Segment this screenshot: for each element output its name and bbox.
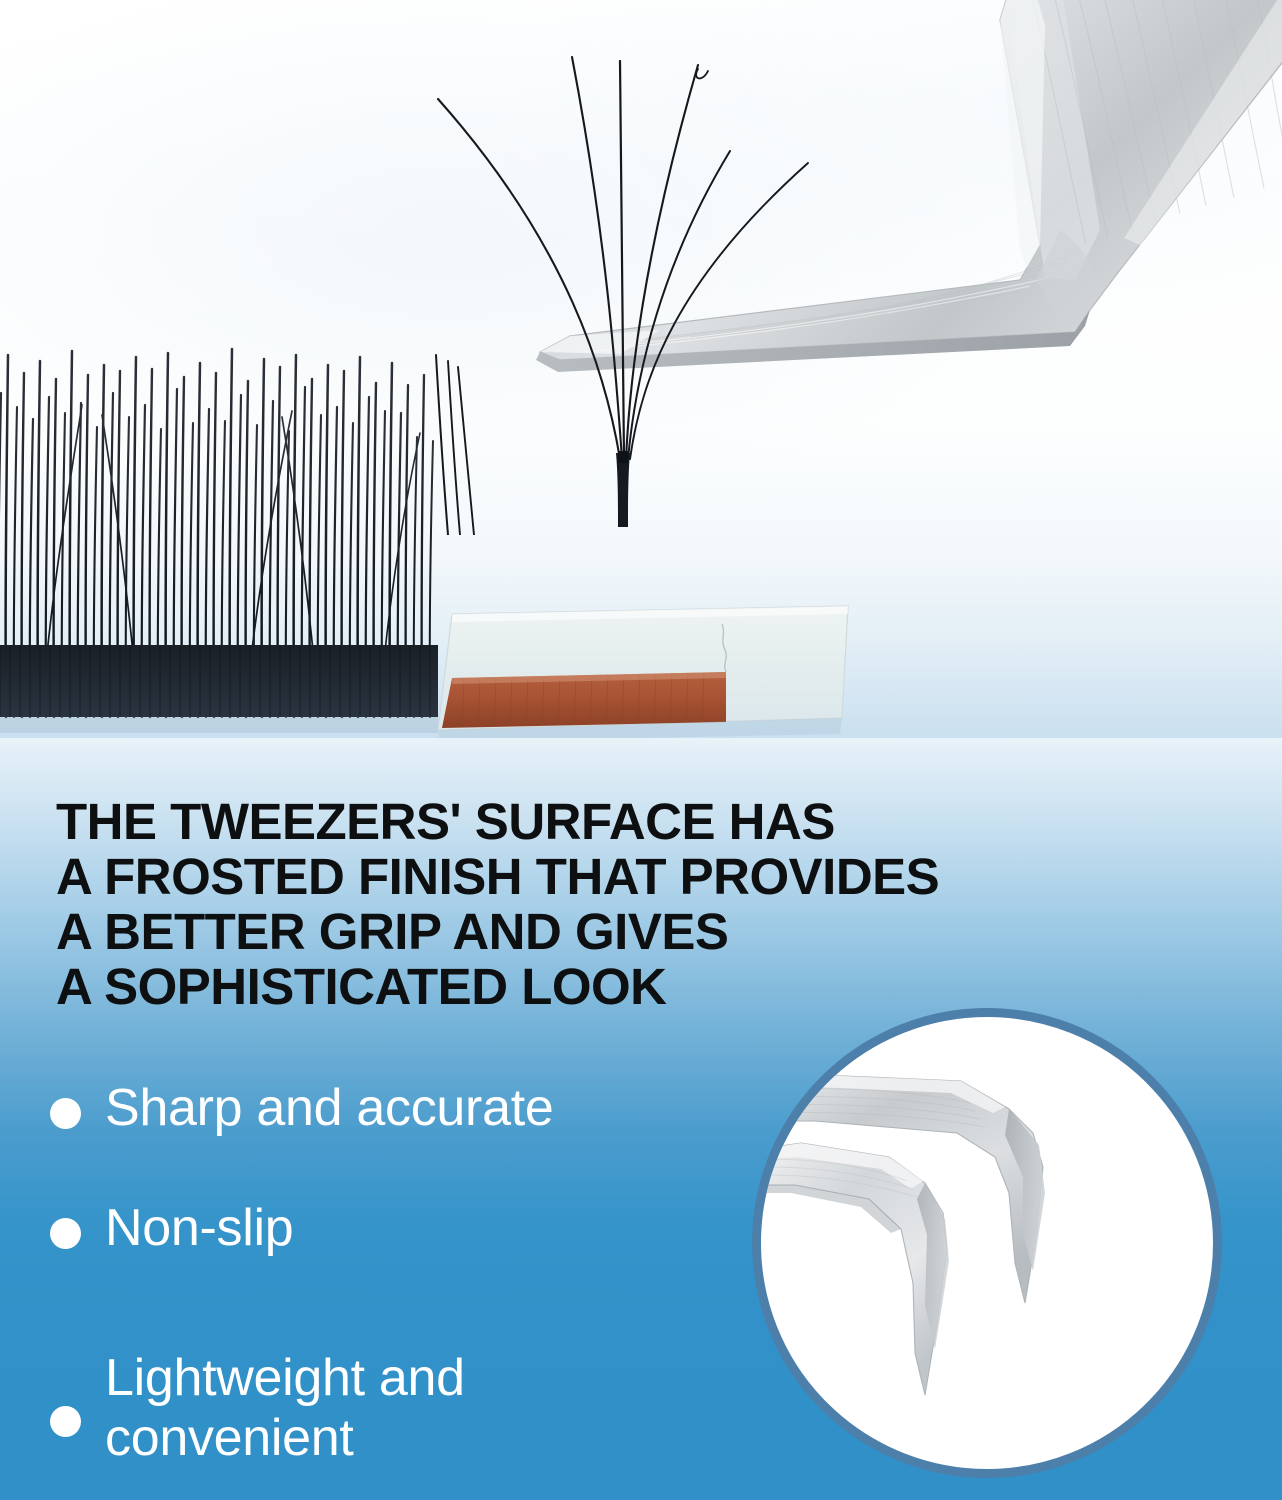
lash-tray-image — [430, 600, 850, 745]
feature-item-non-slip: Non-slip — [50, 1198, 750, 1272]
headline: THE TWEEZERS' SURFACE HAS A FROSTED FINI… — [56, 794, 1146, 1014]
tweezer-tip-inset — [752, 1008, 1222, 1478]
headline-line-3: A BETTER GRIP AND GIVES — [56, 904, 1146, 959]
feature-list: Sharp and accurate Non-slip Lightweight … — [50, 1078, 750, 1468]
feature-item-lightweight-and-convenient: Lightweight and convenient — [50, 1348, 750, 1468]
lash-strip-image — [0, 345, 476, 745]
bullet-dot-icon — [50, 1098, 81, 1129]
lash-fan-image — [430, 55, 850, 535]
tweezer-tip-closeup-image — [761, 1017, 1213, 1469]
feature-item-sharp-and-accurate: Sharp and accurate — [50, 1078, 750, 1152]
headline-line-1: THE TWEEZERS' SURFACE HAS — [56, 794, 1146, 849]
feature-label-line: convenient — [105, 1408, 465, 1468]
feature-label-line: Lightweight and — [105, 1348, 465, 1408]
bullet-dot-icon — [50, 1406, 81, 1437]
feature-label: Non-slip — [105, 1198, 293, 1258]
feature-label-line: Sharp and accurate — [105, 1078, 553, 1138]
feature-label: Lightweight and convenient — [105, 1348, 465, 1468]
product-infographic: THE TWEEZERS' SURFACE HAS A FROSTED FINI… — [0, 0, 1282, 1500]
feature-label: Sharp and accurate — [105, 1078, 553, 1138]
product-photo — [0, 0, 1282, 770]
headline-line-2: A FROSTED FINISH THAT PROVIDES — [56, 849, 1146, 904]
bullet-dot-icon — [50, 1218, 81, 1249]
feature-label-line: Non-slip — [105, 1198, 293, 1258]
headline-line-4: A SOPHISTICATED LOOK — [56, 959, 1146, 1014]
